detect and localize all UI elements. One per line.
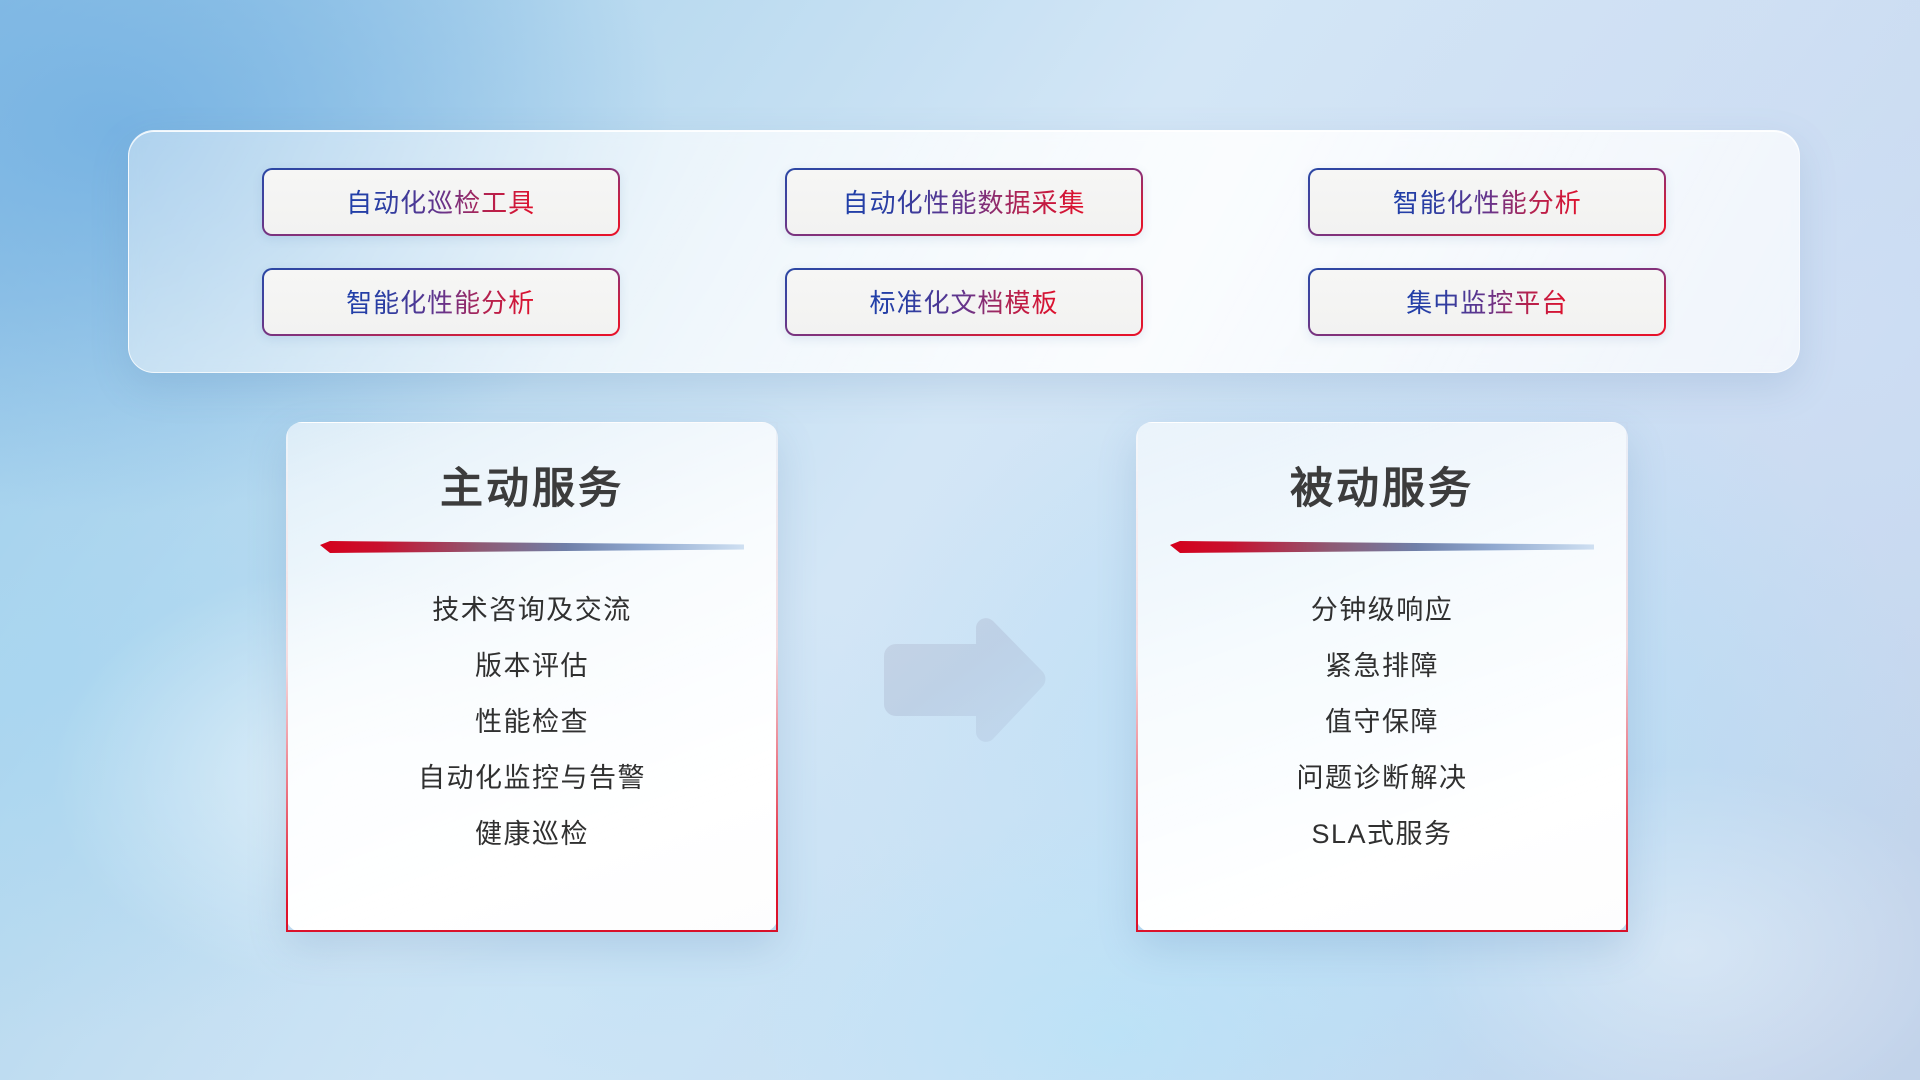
capability-pill-4-body: 智能化性能分析 (264, 270, 618, 334)
service-card-reactive-body: 被动服务 (1138, 423, 1626, 930)
diagram-canvas: 自动化巡检工具 自动化性能数据采集 智能化性能分析 智能化性能分析 (0, 0, 1920, 1080)
list-item: 值守保障 (1325, 695, 1439, 751)
capability-pill-2[interactable]: 自动化性能数据采集 (785, 168, 1143, 236)
capability-pill-4[interactable]: 智能化性能分析 (262, 268, 620, 336)
capability-pill-2-label: 自动化性能数据采集 (842, 183, 1085, 220)
list-item: 性能检查 (475, 695, 589, 751)
capability-pill-grid: 自动化巡检工具 自动化性能数据采集 智能化性能分析 智能化性能分析 (129, 168, 1799, 336)
list-item: 技术咨询及交流 (432, 583, 632, 639)
capability-pill-3-body: 智能化性能分析 (1310, 170, 1664, 234)
list-item: 健康巡检 (475, 807, 589, 863)
service-card-proactive-list: 技术咨询及交流 版本评估 性能检查 自动化监控与告警 健康巡检 (328, 583, 736, 863)
capability-pill-4-label: 智能化性能分析 (346, 283, 535, 320)
list-item: 自动化监控与告警 (418, 751, 646, 807)
service-card-reactive[interactable]: 被动服务 (1136, 422, 1628, 932)
capability-pill-5-label: 标准化文档模板 (869, 283, 1058, 320)
capability-pill-3-label: 智能化性能分析 (1393, 183, 1582, 220)
capability-pill-3[interactable]: 智能化性能分析 (1308, 168, 1666, 236)
capability-pill-6-label: 集中监控平台 (1406, 283, 1568, 320)
capability-pill-5[interactable]: 标准化文档模板 (785, 268, 1143, 336)
service-card-proactive-title: 主动服务 (440, 463, 624, 517)
capability-pill-5-body: 标准化文档模板 (787, 270, 1141, 334)
list-item: SLA式服务 (1311, 807, 1452, 863)
capability-pill-6-body: 集中监控平台 (1310, 270, 1664, 334)
list-item: 分钟级响应 (1311, 583, 1454, 639)
service-card-reactive-title: 被动服务 (1290, 463, 1474, 517)
title-divider-right (1170, 541, 1594, 555)
service-card-proactive[interactable]: 主动服务 (286, 422, 778, 932)
service-card-proactive-body: 主动服务 (288, 423, 776, 930)
title-divider-left (320, 541, 744, 555)
list-item: 问题诊断解决 (1297, 751, 1468, 807)
list-item: 版本评估 (475, 639, 589, 695)
capability-pill-6[interactable]: 集中监控平台 (1308, 268, 1666, 336)
capability-pill-2-body: 自动化性能数据采集 (787, 170, 1141, 234)
capability-pill-1-body: 自动化巡检工具 (264, 170, 618, 234)
capability-pill-1-label: 自动化巡检工具 (346, 183, 535, 220)
capability-panel: 自动化巡检工具 自动化性能数据采集 智能化性能分析 智能化性能分析 (128, 130, 1800, 373)
capability-pill-1[interactable]: 自动化巡检工具 (262, 168, 620, 236)
right-arrow-icon (872, 618, 1050, 744)
list-item: 紧急排障 (1325, 639, 1439, 695)
service-card-reactive-list: 分钟级响应 紧急排障 值守保障 问题诊断解决 SLA式服务 (1178, 583, 1586, 863)
